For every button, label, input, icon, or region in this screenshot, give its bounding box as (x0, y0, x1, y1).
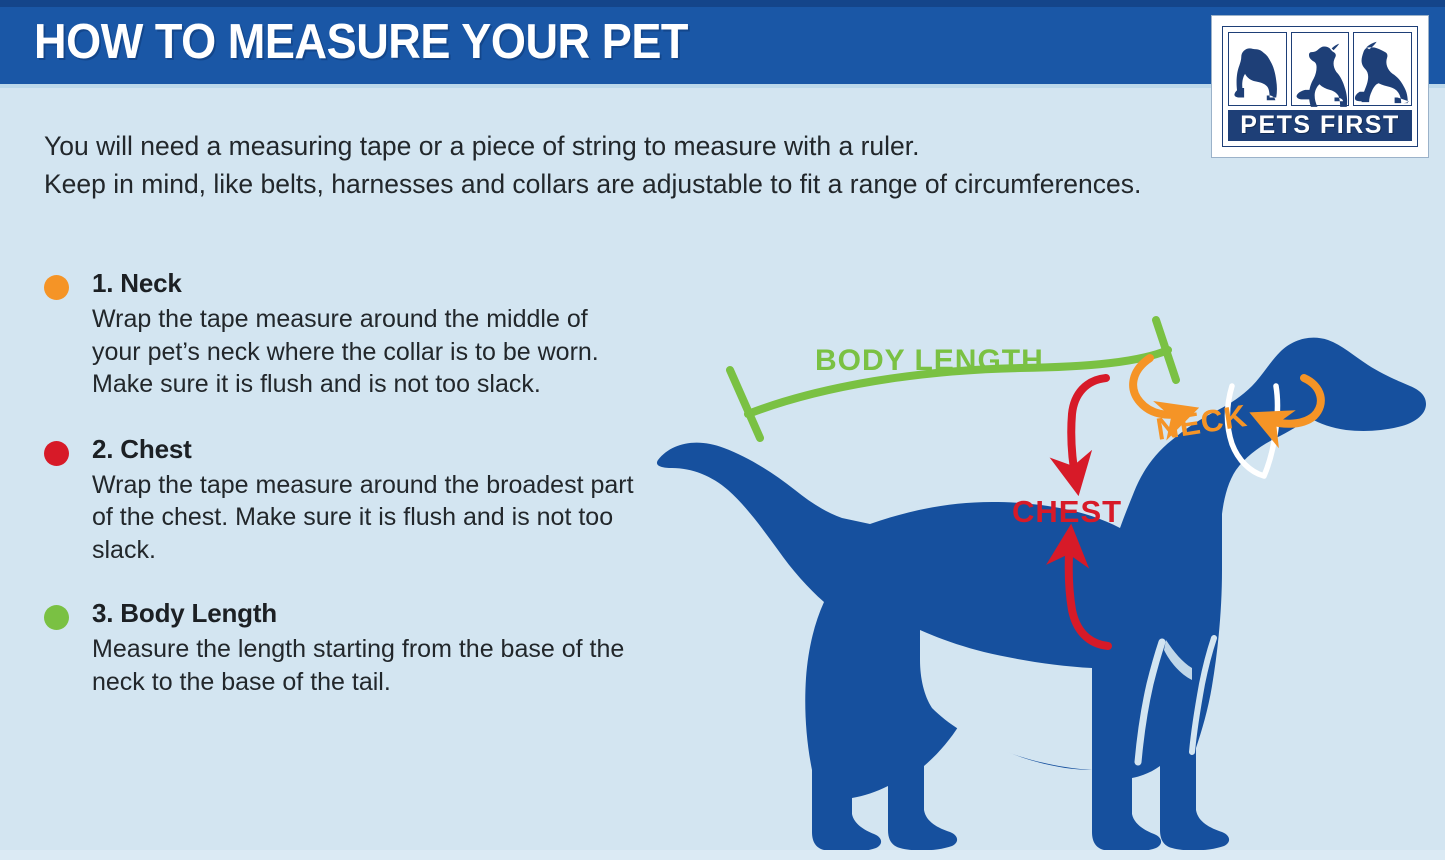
step-body-neck: Wrap the tape measure around the middle … (92, 303, 636, 401)
bullet-neck-icon (44, 275, 69, 300)
infographic-page: HOW TO MEASURE YOUR PET (0, 0, 1445, 860)
logo-inner-frame: PETS FIRST (1222, 26, 1418, 147)
brand-logo: PETS FIRST (1212, 16, 1428, 157)
bullet-body-length-icon (44, 605, 69, 630)
step-title-neck: 1. Neck (92, 266, 636, 300)
step-body-chest: Wrap the tape measure around the broades… (92, 469, 636, 567)
page-title: HOW TO MEASURE YOUR PET (34, 13, 688, 71)
sitting-dog-silhouette-icon (1228, 32, 1287, 106)
step-title-chest: 2. Chest (92, 432, 636, 466)
bullet-chest-icon (44, 441, 69, 466)
label-body-length: BODY LENGTH (815, 344, 1044, 377)
logo-wordmark-text: PETS FIRST (1240, 113, 1399, 138)
step-body-body-length: Measure the length starting from the bas… (92, 633, 636, 698)
measurement-steps-list: 1. Neck Wrap the tape measure around the… (36, 266, 636, 729)
logo-wordmark: PETS FIRST (1228, 110, 1412, 141)
logo-dog-panels (1228, 32, 1412, 106)
list-item-body-length: 3. Body Length Measure the length starti… (36, 596, 636, 698)
list-item-neck: 1. Neck Wrap the tape measure around the… (36, 266, 636, 401)
alert-dog-silhouette-icon (1353, 32, 1412, 106)
list-item-chest: 2. Chest Wrap the tape measure around th… (36, 432, 636, 567)
step-title-body-length: 3. Body Length (92, 596, 636, 630)
dog-measurement-diagram: BODY LENGTH NECK CHEST (620, 210, 1445, 860)
bottom-edge-strip (0, 850, 1445, 860)
intro-line-2: Keep in mind, like belts, harnesses and … (44, 165, 1224, 203)
howling-dog-silhouette-icon (1291, 32, 1350, 106)
label-chest: CHEST (1012, 494, 1122, 529)
intro-line-1: You will need a measuring tape or a piec… (44, 127, 1224, 165)
intro-text: You will need a measuring tape or a piec… (44, 127, 1224, 203)
